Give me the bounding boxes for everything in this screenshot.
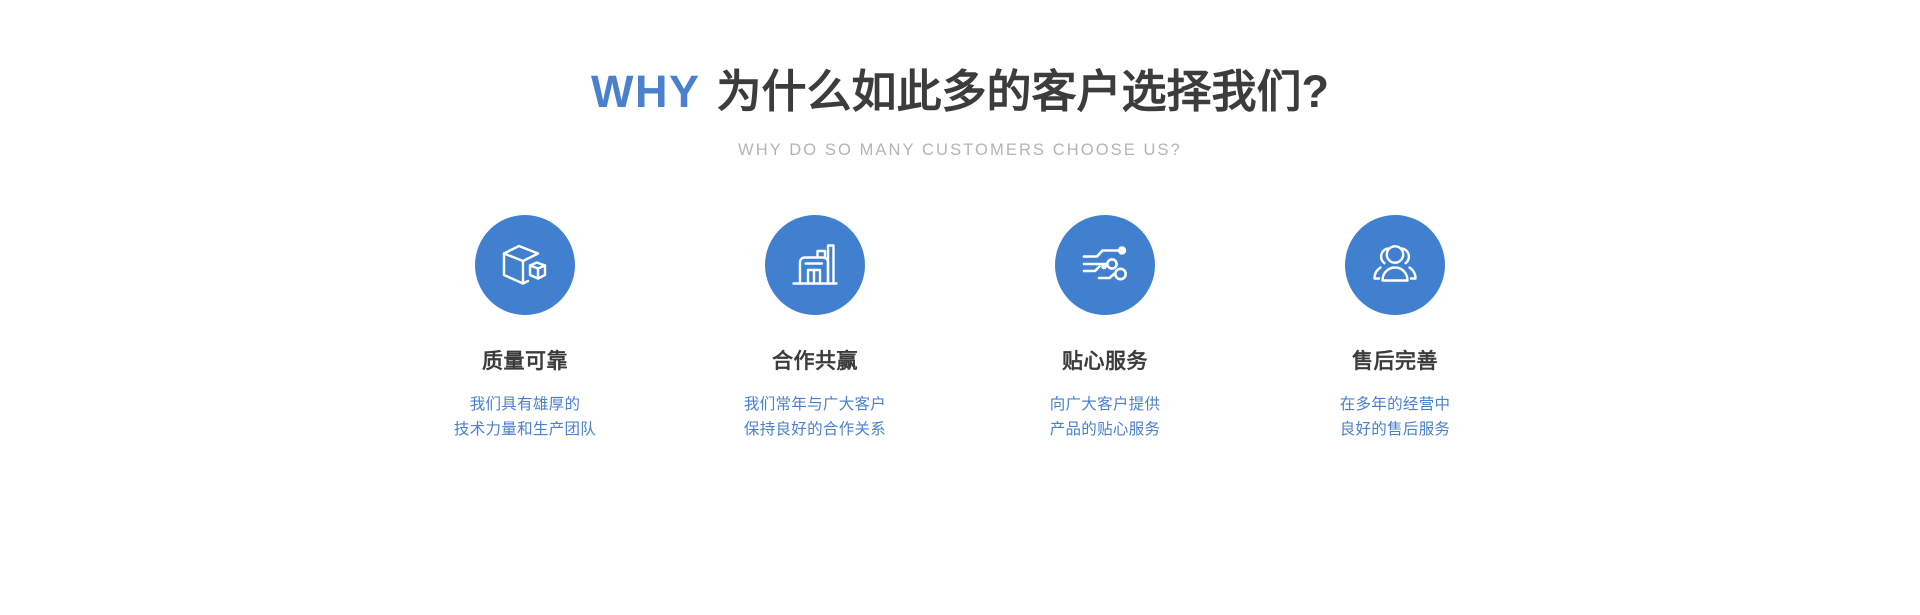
feature-desc-line-2: 产品的贴心服务 [1050,417,1161,442]
icon-circle-aftersales [1345,215,1445,315]
feature-card-list: 质量可靠 我们具有雄厚的 技术力量和生产团队 [410,215,1510,442]
feature-desc-line-2: 技术力量和生产团队 [454,417,596,442]
section-subtitle: WHY DO SO MANY CUSTOMERS CHOOSE US? [0,141,1920,160]
circuit-nodes-icon [1077,237,1133,293]
factory-icon [787,237,843,293]
title-highlight-why: WHY [591,66,701,117]
why-choose-us-section: WHY为什么如此多的客户选择我们? WHY DO SO MANY CUSTOME… [0,0,1920,615]
feature-card-title: 贴心服务 [1062,349,1148,374]
feature-card-quality[interactable]: 质量可靠 我们具有雄厚的 技术力量和生产团队 [410,215,640,442]
feature-card-title: 质量可靠 [482,349,568,374]
package-box-icon [497,237,553,293]
feature-card-description: 我们常年与广大客户 保持良好的合作关系 [744,392,886,442]
feature-card-service[interactable]: 贴心服务 向广大客户提供 产品的贴心服务 [990,215,1220,442]
feature-card-description: 向广大客户提供 产品的贴心服务 [1050,392,1161,442]
feature-card-aftersales[interactable]: 售后完善 在多年的经营中 良好的售后服务 [1280,215,1510,442]
feature-card-title: 合作共赢 [772,349,858,374]
feature-desc-line-2: 良好的售后服务 [1340,417,1451,442]
title-chinese: 为什么如此多的客户选择我们? [717,66,1330,117]
feature-desc-line-1: 我们常年与广大客户 [744,392,886,417]
feature-desc-line-1: 在多年的经营中 [1340,392,1451,417]
feature-card-description: 在多年的经营中 良好的售后服务 [1340,392,1451,442]
feature-card-description: 我们具有雄厚的 技术力量和生产团队 [454,392,596,442]
feature-card-title: 售后完善 [1352,349,1438,374]
users-group-icon [1367,237,1423,293]
feature-desc-line-1: 向广大客户提供 [1050,392,1161,417]
icon-circle-service [1055,215,1155,315]
icon-circle-cooperation [765,215,865,315]
feature-card-cooperation[interactable]: 合作共赢 我们常年与广大客户 保持良好的合作关系 [700,215,930,442]
feature-desc-line-2: 保持良好的合作关系 [744,417,886,442]
feature-desc-line-1: 我们具有雄厚的 [454,392,596,417]
page-title: WHY为什么如此多的客户选择我们? [0,68,1920,117]
section-heading: WHY为什么如此多的客户选择我们? WHY DO SO MANY CUSTOME… [0,68,1920,160]
icon-circle-quality [475,215,575,315]
